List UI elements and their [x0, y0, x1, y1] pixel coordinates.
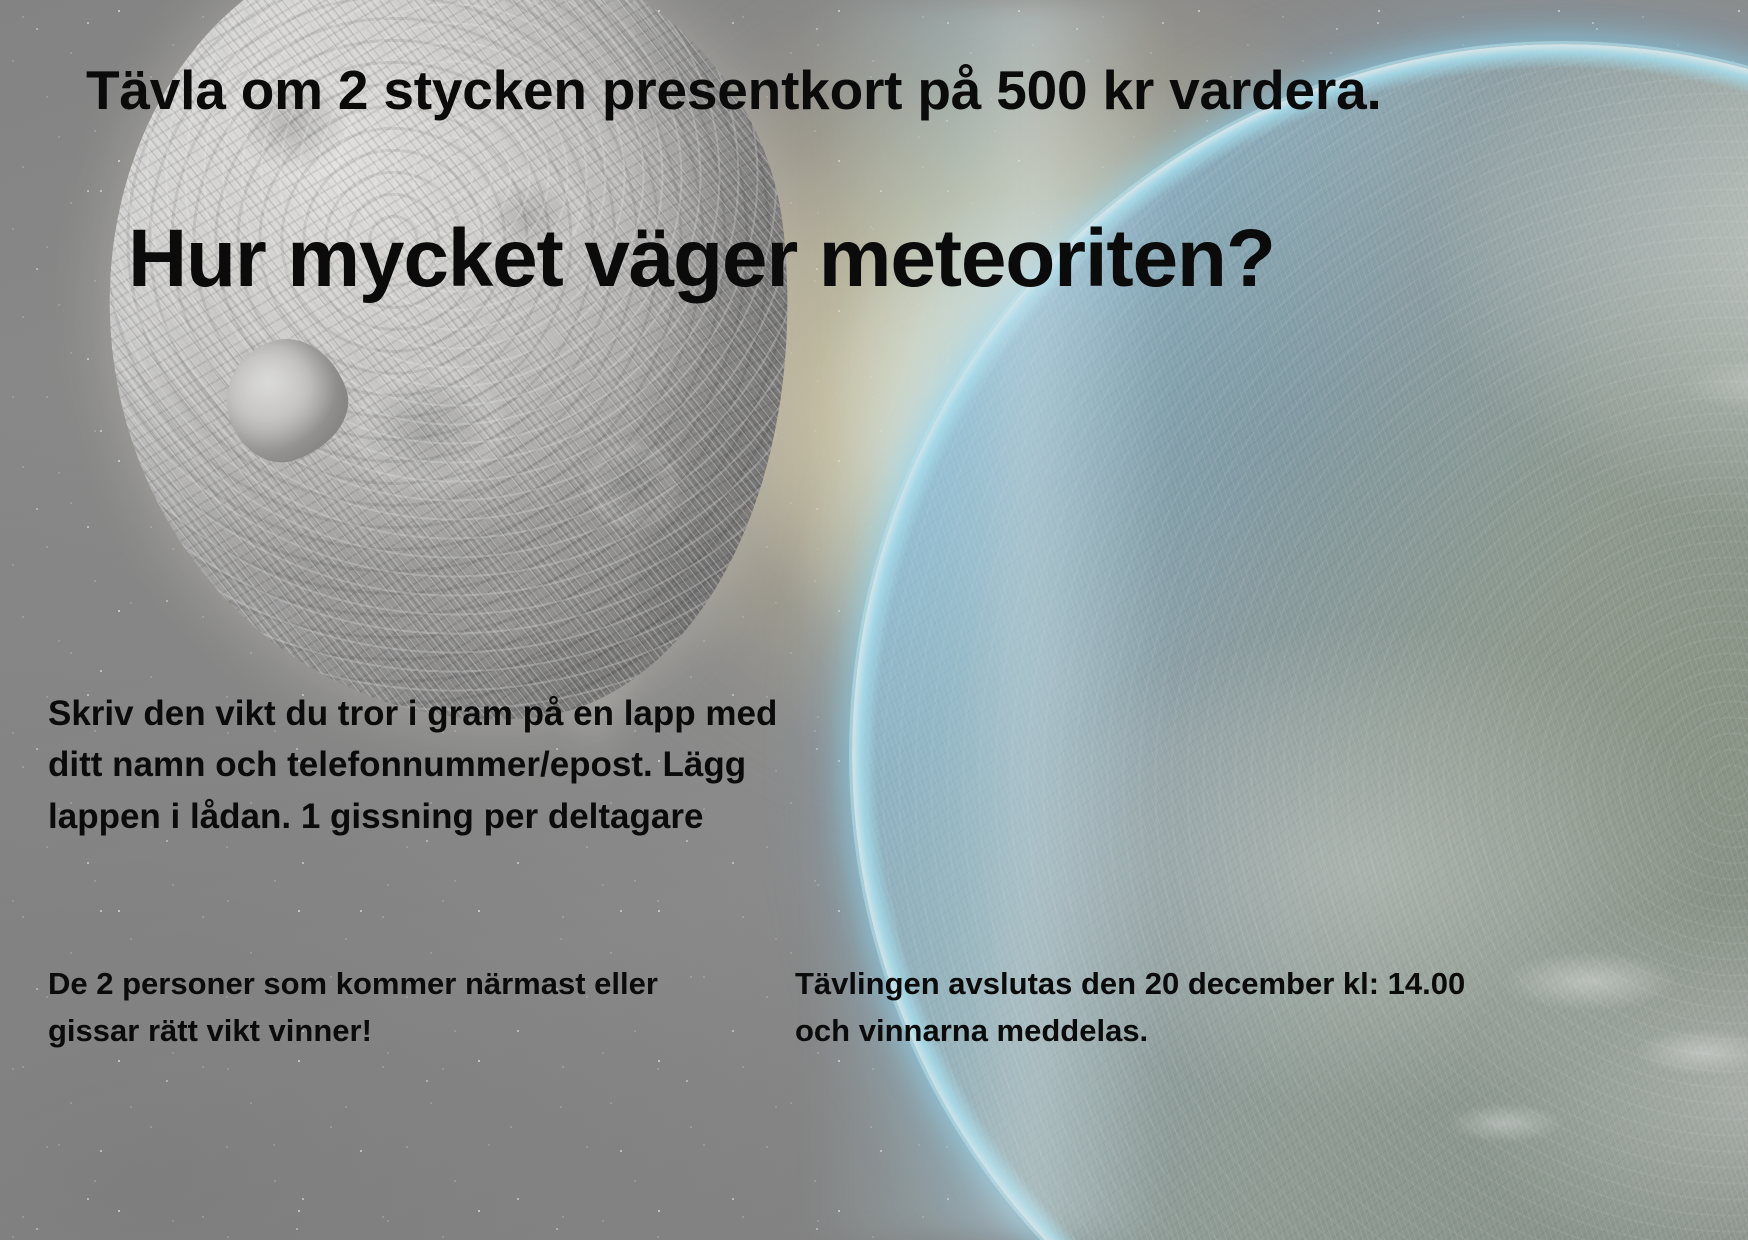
- instructions-block: Skriv den vikt du tror i gram på en lapp…: [48, 688, 868, 842]
- winner-rule-line-2: gissar rätt vikt vinner!: [48, 1007, 808, 1054]
- winner-rule-block: De 2 personer som kommer närmast eller g…: [48, 960, 808, 1054]
- poster-canvas: Tävla om 2 stycken presentkort på 500 kr…: [0, 0, 1748, 1240]
- winner-rule-line-1: De 2 personer som kommer närmast eller: [48, 960, 808, 1007]
- headline-question: Hur mycket väger meteoriten?: [128, 212, 1275, 306]
- instructions-line-1: Skriv den vikt du tror i gram på en lapp…: [48, 688, 868, 739]
- instructions-line-2: ditt namn och telefonnummer/epost. Lägg: [48, 739, 868, 790]
- deadline-line-2: och vinnarna meddelas.: [795, 1007, 1585, 1054]
- deadline-block: Tävlingen avslutas den 20 december kl: 1…: [795, 960, 1585, 1054]
- instructions-line-3: lappen i lådan. 1 gissning per deltagare: [48, 791, 868, 842]
- headline-prize: Tävla om 2 stycken presentkort på 500 kr…: [86, 58, 1382, 122]
- deadline-line-1: Tävlingen avslutas den 20 december kl: 1…: [795, 960, 1585, 1007]
